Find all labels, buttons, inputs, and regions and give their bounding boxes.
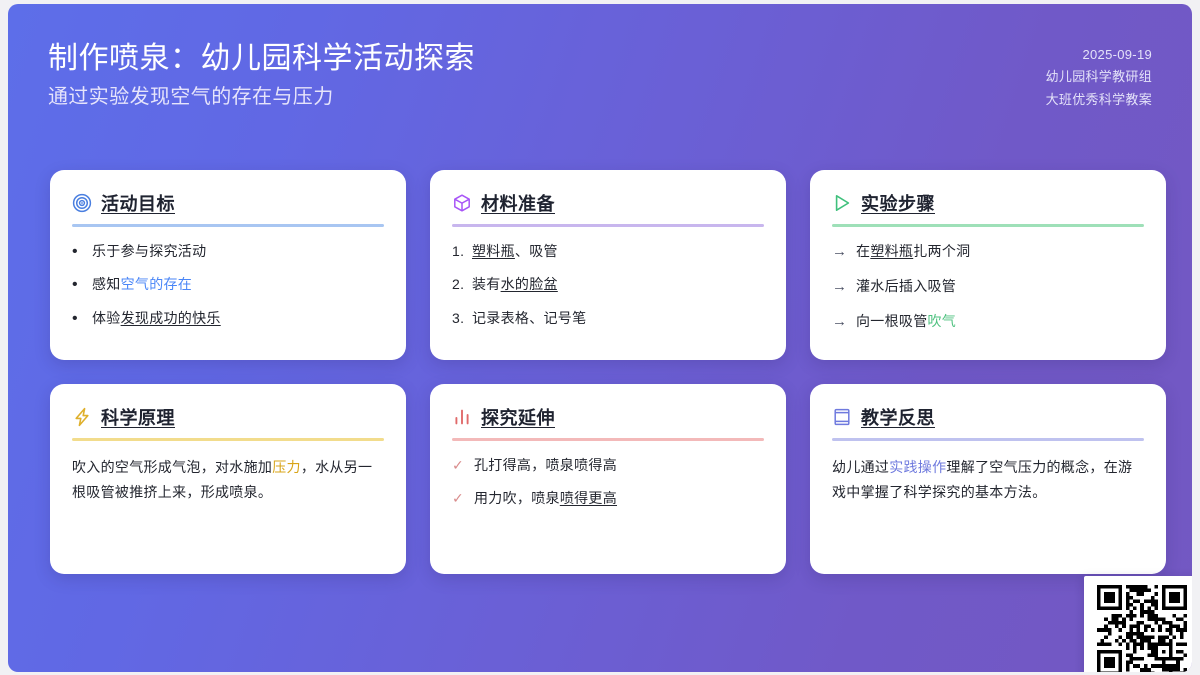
title-block: 制作喷泉：幼儿园科学活动探索 通过实验发现空气的存在与压力 xyxy=(48,40,475,110)
text-segment: 、吸管 xyxy=(515,243,558,259)
text-segment: 幼儿通过 xyxy=(832,459,889,475)
card-title: 探究延伸 xyxy=(481,404,555,430)
card-header: 材料准备 xyxy=(452,190,764,216)
card-header: 科学原理 xyxy=(72,404,384,430)
card-list: • 乐于参与探究活动 • 感知空气的存在 • 体验发现成功的快乐 xyxy=(72,241,384,328)
meta-doc-type: 大班优秀科学教案 xyxy=(1046,89,1152,111)
list-item-text: 灌水后插入吸管 xyxy=(856,276,1144,296)
list-item: • 体验发现成功的快乐 xyxy=(72,308,384,328)
card-header: 教学反思 xyxy=(832,404,1144,430)
qr-code[interactable] xyxy=(1084,576,1192,672)
card-paragraph: 吹入的空气形成气泡，对水施加压力，水从另一根吸管被推挤上来，形成喷泉。 xyxy=(72,455,384,505)
header-meta: 2025-09-19 幼儿园科学教研组 大班优秀科学教案 xyxy=(1046,44,1152,111)
card-accent-bar xyxy=(452,224,764,227)
card-title: 实验步骤 xyxy=(861,190,935,216)
list-item-text: 乐于参与探究活动 xyxy=(92,241,384,261)
card-accent-bar xyxy=(832,224,1144,227)
highlight-segment-underline: 喷得更高 xyxy=(560,490,617,506)
list-item: → 在塑料瓶扎两个洞 xyxy=(832,241,1144,263)
target-icon xyxy=(72,193,92,213)
highlight-segment-amber: 压力 xyxy=(272,459,301,475)
highlight-segment-blue: 空气的存在 xyxy=(121,276,193,292)
list-item: 1. 塑料瓶、吸管 xyxy=(452,241,764,261)
list-marker-num: 3. xyxy=(452,308,472,328)
book-icon xyxy=(832,407,852,427)
page-title: 制作喷泉：幼儿园科学活动探索 xyxy=(48,40,475,78)
list-item: → 向一根吸管吹气 xyxy=(832,311,1144,333)
card-header: 实验步骤 xyxy=(832,190,1144,216)
text-segment: 感知 xyxy=(92,276,121,292)
list-item-text: 记录表格、记号笔 xyxy=(472,308,764,328)
card-title: 材料准备 xyxy=(481,190,555,216)
list-item-text: 塑料瓶、吸管 xyxy=(472,241,764,261)
list-item: • 感知空气的存在 xyxy=(72,274,384,294)
text-segment: 记录表格、记号笔 xyxy=(472,310,586,326)
card-list: 1. 塑料瓶、吸管 2. 装有水的脸盆 3. 记录表格、记号笔 xyxy=(452,241,764,328)
text-segment: 扎两个洞 xyxy=(913,243,970,259)
list-marker-arrow: → xyxy=(832,311,856,333)
card-science-principle[interactable]: 科学原理 吹入的空气形成气泡，对水施加压力，水从另一根吸管被推挤上来，形成喷泉。 xyxy=(50,384,406,574)
meta-group: 幼儿园科学教研组 xyxy=(1046,66,1152,88)
list-item-text: 在塑料瓶扎两个洞 xyxy=(856,241,1144,261)
list-item: 2. 装有水的脸盆 xyxy=(452,274,764,294)
list-item-text: 用力吹，喷泉喷得更高 xyxy=(474,488,764,508)
list-marker-arrow: → xyxy=(832,276,856,298)
list-item: ✓ 用力吹，喷泉喷得更高 xyxy=(452,488,764,508)
list-item: 3. 记录表格、记号笔 xyxy=(452,308,764,328)
card-paragraph: 幼儿通过实践操作理解了空气压力的概念，在游戏中掌握了科学探究的基本方法。 xyxy=(832,455,1144,505)
text-segment: 灌水后插入吸管 xyxy=(856,278,956,294)
text-segment: 在 xyxy=(856,243,870,259)
highlight-segment-green: 吹气 xyxy=(928,313,957,329)
text-segment: 向一根吸管 xyxy=(856,313,928,329)
slide-header: 制作喷泉：幼儿园科学活动探索 通过实验发现空气的存在与压力 2025-09-19… xyxy=(8,4,1192,152)
card-experiment-steps[interactable]: 实验步骤 → 在塑料瓶扎两个洞 → 灌水后插入吸管 → 向一根吸管吹气 xyxy=(810,170,1166,360)
card-teaching-reflection[interactable]: 教学反思 幼儿通过实践操作理解了空气压力的概念，在游戏中掌握了科学探究的基本方法… xyxy=(810,384,1166,574)
card-material-prep[interactable]: 材料准备 1. 塑料瓶、吸管 2. 装有水的脸盆 3. 记录表格、记号笔 xyxy=(430,170,786,360)
list-marker-arrow: → xyxy=(832,241,856,263)
page-subtitle: 通过实验发现空气的存在与压力 xyxy=(48,84,475,110)
card-inquiry-extension[interactable]: 探究延伸 ✓ 孔打得高，喷泉喷得高 ✓ 用力吹，喷泉喷得更高 xyxy=(430,384,786,574)
card-accent-bar xyxy=(72,224,384,227)
list-item: ✓ 孔打得高，喷泉喷得高 xyxy=(452,455,764,475)
card-activity-goals[interactable]: 活动目标 • 乐于参与探究活动 • 感知空气的存在 • 体验发现成功的快乐 xyxy=(50,170,406,360)
list-item-text: 向一根吸管吹气 xyxy=(856,311,1144,331)
card-title: 科学原理 xyxy=(101,404,175,430)
text-segment: 用力吹，喷泉 xyxy=(474,490,560,506)
card-accent-bar xyxy=(832,438,1144,441)
list-item: • 乐于参与探究活动 xyxy=(72,241,384,261)
list-marker-dot: • xyxy=(72,277,92,293)
text-segment: 装有 xyxy=(472,276,501,292)
card-accent-bar xyxy=(72,438,384,441)
meta-date: 2025-09-19 xyxy=(1046,44,1152,66)
play-triangle-icon xyxy=(832,193,852,213)
list-marker-dot: • xyxy=(72,244,92,260)
list-marker-num: 2. xyxy=(452,274,472,294)
card-title: 教学反思 xyxy=(861,404,935,430)
list-item-text: 装有水的脸盆 xyxy=(472,274,764,294)
card-list: → 在塑料瓶扎两个洞 → 灌水后插入吸管 → 向一根吸管吹气 xyxy=(832,241,1144,332)
highlight-segment-underline: 发现成功的快乐 xyxy=(121,310,221,326)
highlight-segment-underline: 水的脸盆 xyxy=(501,276,558,292)
highlight-segment-underline: 塑料瓶 xyxy=(472,243,515,259)
highlight-segment-indigo: 实践操作 xyxy=(889,459,946,475)
slide-canvas: 制作喷泉：幼儿园科学活动探索 通过实验发现空气的存在与压力 2025-09-19… xyxy=(8,4,1192,672)
card-accent-bar xyxy=(452,438,764,441)
card-title: 活动目标 xyxy=(101,190,175,216)
list-marker-num: 1. xyxy=(452,241,472,261)
highlight-segment-underline: 塑料瓶 xyxy=(870,243,913,259)
text-segment: 体验 xyxy=(92,310,121,326)
card-header: 活动目标 xyxy=(72,190,384,216)
bar-chart-icon xyxy=(452,407,472,427)
list-item-text: 体验发现成功的快乐 xyxy=(92,308,384,328)
card-grid: 活动目标 • 乐于参与探究活动 • 感知空气的存在 • 体验发现成功的快乐 材料… xyxy=(50,170,1166,574)
text-segment: 孔打得高，喷泉喷得高 xyxy=(474,457,617,473)
list-item-text: 感知空气的存在 xyxy=(92,274,384,294)
cube-icon xyxy=(452,193,472,213)
list-marker-dot: • xyxy=(72,311,92,327)
list-item-text: 孔打得高，喷泉喷得高 xyxy=(474,455,764,475)
lightning-bolt-icon xyxy=(72,407,92,427)
card-list: ✓ 孔打得高，喷泉喷得高 ✓ 用力吹，喷泉喷得更高 xyxy=(452,455,764,509)
list-item: → 灌水后插入吸管 xyxy=(832,276,1144,298)
list-marker-check: ✓ xyxy=(452,488,474,508)
list-marker-check: ✓ xyxy=(452,455,474,475)
text-segment: 吹入的空气形成气泡，对水施加 xyxy=(72,459,272,475)
card-header: 探究延伸 xyxy=(452,404,764,430)
text-segment: 乐于参与探究活动 xyxy=(92,243,206,259)
